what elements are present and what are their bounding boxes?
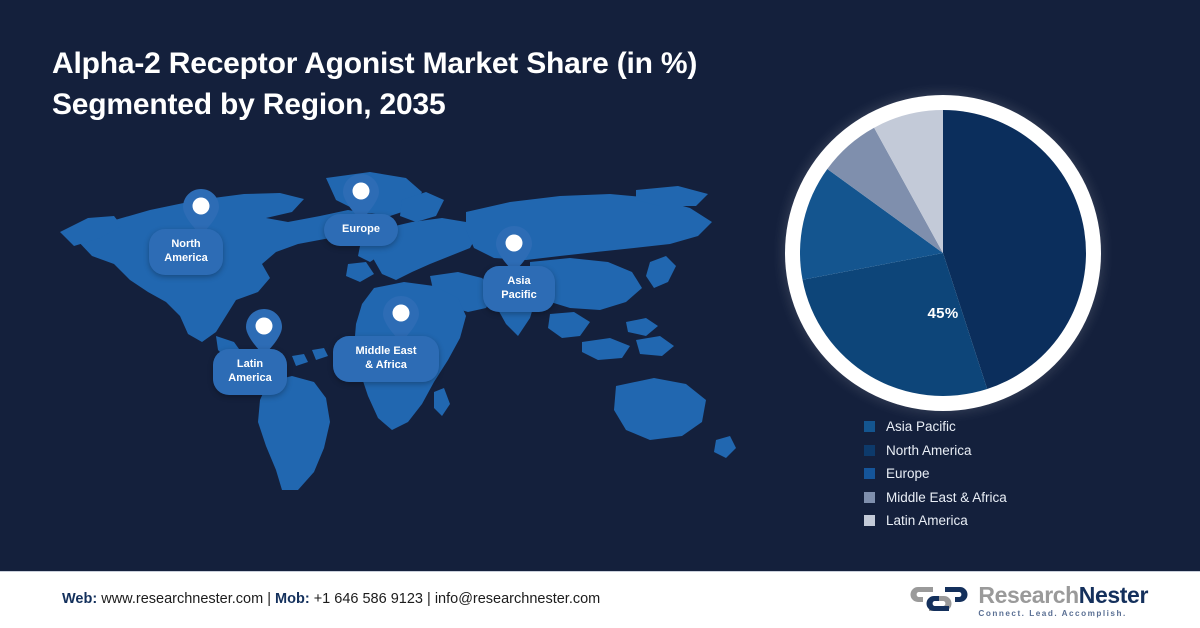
map-pin-label: Middle East & Africa [333, 336, 439, 382]
logo-tagline: Connect. Lead. Accomplish. [978, 610, 1148, 618]
footer-email-value[interactable]: info@researchnester.com [435, 591, 600, 607]
footer-web-value[interactable]: www.researchnester.com [101, 591, 263, 607]
legend-swatch-icon [864, 492, 875, 503]
map-pin-icon [495, 225, 533, 263]
legend-label: Middle East & Africa [886, 490, 1007, 505]
footer-separator: | [267, 591, 271, 607]
legend-label: Asia Pacific [886, 419, 956, 434]
legend-item[interactable]: Asia Pacific [864, 415, 1144, 439]
footer-bar: Web: www.researchnester.com | Mob: +1 64… [0, 571, 1200, 628]
map-pin-label: Latin America [213, 349, 287, 395]
footer-mob-label: Mob: [275, 591, 310, 607]
map-pin-label: North America [149, 229, 223, 275]
world-map: North America Europe Asia Pacific [30, 160, 740, 490]
logo-name: ResearchNester [978, 582, 1148, 608]
footer-separator: | [427, 591, 431, 607]
legend-swatch-icon [864, 468, 875, 479]
page-title: Alpha-2 Receptor Agonist Market Share (i… [52, 44, 792, 125]
legend-swatch-icon [864, 445, 875, 456]
logo-mark-icon [909, 584, 969, 619]
footer-web-label: Web: [62, 591, 97, 607]
map-pin-icon [182, 188, 220, 226]
legend-swatch-icon [864, 515, 875, 526]
logo-word-research: Research [978, 582, 1078, 608]
infographic-canvas: Alpha-2 Receptor Agonist Market Share (i… [0, 0, 1200, 628]
map-pin-icon [245, 308, 283, 346]
logo-word-nester: Nester [1079, 582, 1148, 608]
legend-item[interactable]: Europe [864, 462, 1144, 486]
pie-chart-legend: Asia Pacific North America Europe Middle… [864, 415, 1144, 533]
legend-swatch-icon [864, 421, 875, 432]
legend-label: Latin America [886, 513, 968, 528]
legend-label: North America [886, 443, 972, 458]
map-pin-label: Asia Pacific [483, 266, 555, 312]
footer-mob-value[interactable]: +1 646 586 9123 [314, 591, 423, 607]
map-pin-icon [342, 173, 380, 211]
legend-item[interactable]: North America [864, 439, 1144, 463]
footer-contact-line: Web: www.researchnester.com | Mob: +1 64… [62, 591, 600, 607]
map-pin-label: Europe [324, 214, 398, 246]
research-nester-logo[interactable]: ResearchNester Connect. Lead. Accomplish… [909, 581, 1148, 621]
map-pin-icon [382, 295, 420, 333]
pie-chart-value-label: 45% [785, 305, 1101, 322]
pie-chart: 45% [785, 95, 1101, 411]
legend-item[interactable]: Latin America [864, 509, 1144, 533]
logo-text: ResearchNester Connect. Lead. Accomplish… [978, 584, 1148, 618]
legend-item[interactable]: Middle East & Africa [864, 486, 1144, 510]
legend-label: Europe [886, 466, 930, 481]
pie-chart-slices [800, 110, 1086, 396]
